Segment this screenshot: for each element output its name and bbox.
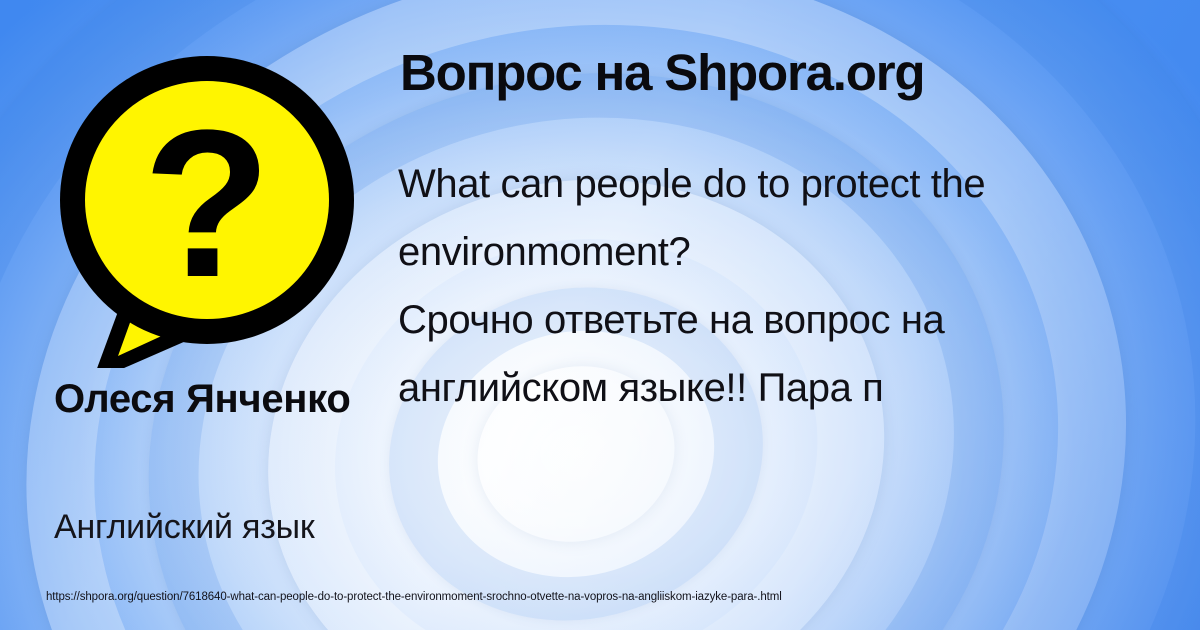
question-share-card: ? Олеся Янченко Английский язык Вопрос н… (0, 0, 1200, 630)
card-content: ? Олеся Янченко Английский язык Вопрос н… (0, 0, 1200, 630)
question-mark-glyph: ? (143, 86, 271, 321)
question-line: What can people do to protect the (398, 150, 1200, 218)
question-line: environmoment? (398, 218, 1200, 286)
subject-label: Английский язык (54, 509, 394, 546)
question-text: What can people do to protect theenviron… (398, 150, 1200, 422)
page-title: Вопрос на Shpora.org (400, 46, 1200, 100)
question-line: английском языке!! Пара п (398, 354, 1200, 422)
question-line: Срочно ответьте на вопрос на (398, 286, 1200, 354)
author-name: Олеся Янченко (54, 378, 384, 421)
source-url: https://shpora.org/question/7618640-what… (46, 590, 782, 604)
question-speech-bubble-icon: ? (52, 48, 362, 368)
